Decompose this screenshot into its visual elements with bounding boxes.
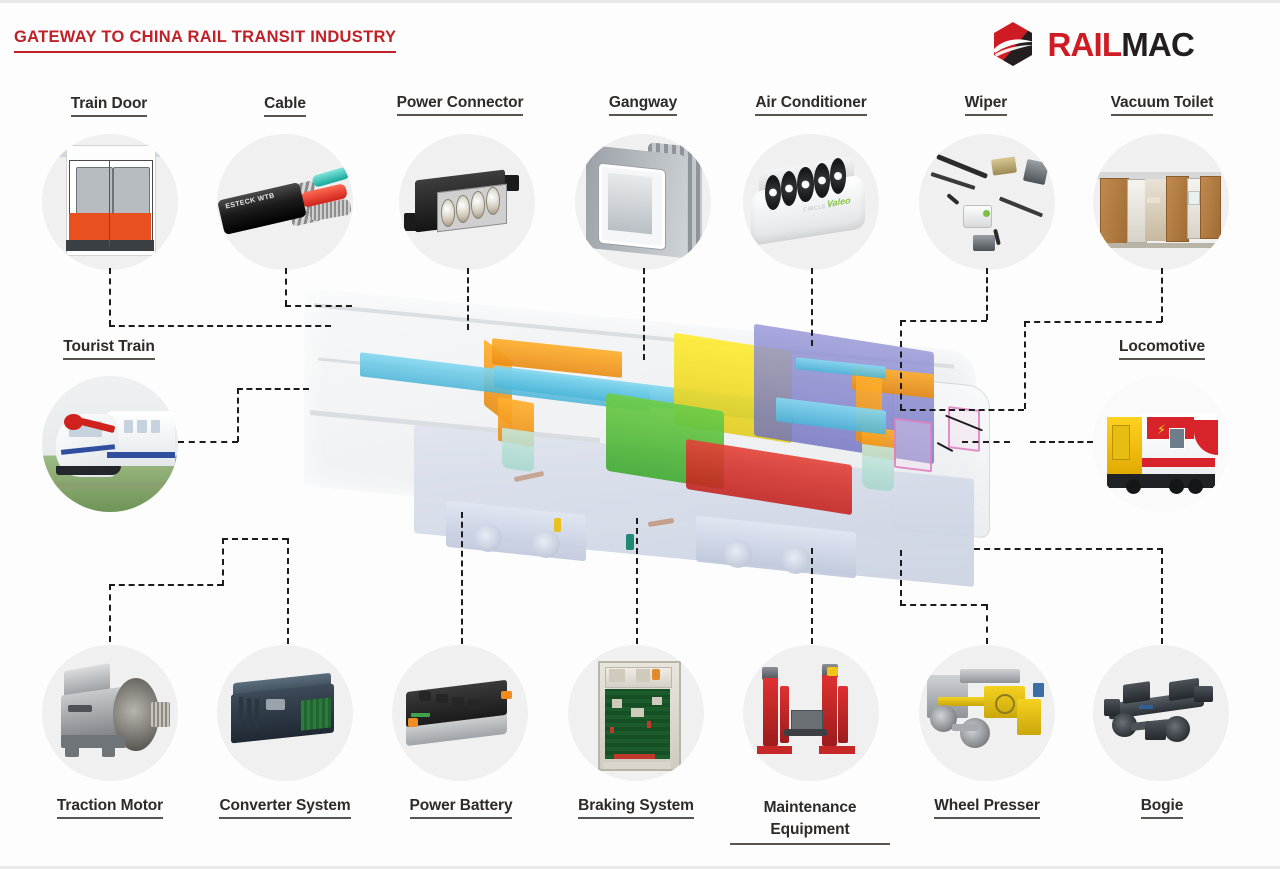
connector-wheel-presser-v2 [900, 550, 902, 606]
vacuum-toilet-thumbnail [1093, 134, 1229, 270]
label-tourist-train: Tourist Train [34, 338, 184, 360]
thumb-bogie[interactable] [1093, 645, 1229, 781]
connector-air-conditioner [811, 268, 813, 346]
connector-power-connector [467, 268, 469, 330]
top-border [0, 0, 1280, 3]
label-traction-motor: Traction Motor [34, 797, 186, 819]
label-braking-system: Braking System [556, 797, 716, 819]
label-converter-system: Converter System [196, 797, 374, 819]
connector-traction-motor-h2 [222, 538, 288, 540]
braking-system-thumbnail [568, 645, 704, 781]
air-conditioner-thumbnail: CIRCLE 03 Valeo [743, 134, 879, 270]
connector-traction-motor-v2 [222, 538, 224, 586]
thumb-air-conditioner[interactable]: CIRCLE 03 Valeo [743, 134, 879, 270]
railmac-hexagon-train-logo [989, 20, 1037, 68]
traction-motor-thumbnail [42, 645, 178, 781]
label-train-door: Train Door [34, 95, 184, 117]
connector-wiper-h2 [900, 409, 1024, 411]
connector-wiper-v2 [900, 320, 902, 410]
tourist-train-thumbnail [42, 376, 178, 512]
thumb-braking-system[interactable] [568, 645, 704, 781]
thumb-converter-system[interactable] [217, 645, 353, 781]
thumb-locomotive[interactable]: ⚡ [1093, 376, 1229, 512]
thumb-traction-motor[interactable] [42, 645, 178, 781]
translucent-locomotive-cutaway [296, 312, 986, 580]
power-battery-thumbnail [392, 645, 528, 781]
connector-bogie-v [1161, 548, 1163, 644]
label-power-battery: Power Battery [385, 797, 537, 819]
thumb-power-battery[interactable] [392, 645, 528, 781]
train-door-thumbnail [42, 134, 178, 270]
wheel-presser-thumbnail [919, 645, 1055, 781]
label-wiper: Wiper [911, 94, 1061, 116]
thumb-maintenance-equipment[interactable] [743, 645, 879, 781]
power-connector-thumbnail [399, 134, 535, 270]
connector-wiper [986, 268, 988, 320]
thumb-vacuum-toilet[interactable] [1093, 134, 1229, 270]
label-locomotive: Locomotive [1087, 338, 1237, 360]
connector-converter-v [287, 538, 289, 644]
connector-braking-v [636, 518, 638, 644]
label-gangway: Gangway [568, 94, 718, 116]
locomotive-thumbnail: ⚡ [1093, 376, 1229, 512]
logo-text-rail: RAIL [1047, 26, 1121, 63]
connector-locomotive-h2 [962, 441, 1010, 443]
thumb-gangway[interactable] [575, 134, 711, 270]
connector-vacuum-toilet-v2 [1024, 321, 1026, 409]
thumb-wheel-presser[interactable] [919, 645, 1055, 781]
thumb-tourist-train[interactable] [42, 376, 178, 512]
label-power-connector: Power Connector [370, 94, 550, 116]
connector-wiper-h [900, 320, 987, 322]
wiper-thumbnail [919, 134, 1055, 270]
cable-thumbnail: ESTECK WTB [217, 134, 353, 270]
infographic-canvas: GATEWAY TO CHINA RAIL TRANSIT INDUSTRY R… [0, 0, 1280, 869]
connector-bogie-h [974, 548, 1163, 550]
connector-wheel-presser-h [900, 604, 987, 606]
connector-vacuum-toilet [1161, 268, 1163, 322]
connector-tourist-train-h2 [237, 388, 309, 390]
thumb-train-door[interactable] [42, 134, 178, 270]
maintenance-equipment-thumbnail [743, 645, 879, 781]
connector-traction-motor-h [109, 584, 223, 586]
connector-train-door-h [109, 325, 331, 327]
logo-text-mac: MAC [1121, 26, 1194, 63]
connector-traction-motor-v [109, 584, 111, 642]
connector-cable [285, 268, 287, 306]
connector-tourist-train-h [178, 441, 238, 443]
connector-wheel-presser-v [986, 604, 988, 644]
thumb-cable[interactable]: ESTECK WTB [217, 134, 353, 270]
gangway-thumbnail [575, 134, 711, 270]
bogie-thumbnail [1093, 645, 1229, 781]
connector-maintenance-v [811, 548, 813, 644]
label-bogie: Bogie [1100, 797, 1224, 819]
label-vacuum-toilet: Vacuum Toilet [1077, 94, 1247, 116]
page-title: GATEWAY TO CHINA RAIL TRANSIT INDUSTRY [14, 28, 396, 53]
label-maintenance-equipment: Maintenance Equipment [730, 797, 890, 845]
connector-power-battery-v [461, 512, 463, 644]
logo-wordmark: RAILMAC [1047, 28, 1194, 61]
connector-locomotive-h [1030, 441, 1093, 443]
label-wheel-presser: Wheel Presser [911, 797, 1063, 819]
connector-vacuum-toilet-h [1024, 321, 1162, 323]
connector-cable-h [285, 305, 352, 307]
connector-tourist-train-v [237, 388, 239, 442]
connector-train-door [109, 268, 111, 326]
brand-logo: RAILMAC [989, 20, 1194, 68]
connector-gangway [643, 268, 645, 360]
thumb-power-connector[interactable] [399, 134, 535, 270]
label-air-conditioner: Air Conditioner [721, 94, 901, 116]
converter-system-thumbnail [217, 645, 353, 781]
label-cable: Cable [210, 95, 360, 117]
thumb-wiper[interactable] [919, 134, 1055, 270]
